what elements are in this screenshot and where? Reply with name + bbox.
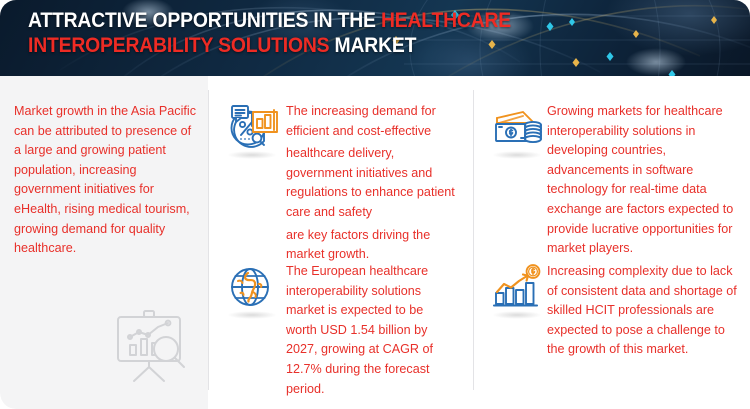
card-european-market-icon-wrap (224, 262, 280, 319)
icon-shadow (492, 151, 542, 159)
bar-chart-growth-dollar-icon (489, 262, 545, 314)
content-area: Market growth in the Asia Pacific can be… (0, 76, 750, 409)
column-divider-2 (473, 90, 474, 390)
card-european-market: The European healthcare interoperability… (224, 262, 456, 399)
icon-shadow (227, 151, 277, 159)
card-demand-para-2: healthcare delivery, government initiati… (286, 144, 456, 222)
title-segment-red-1: HEALTHCARE (381, 8, 511, 32)
title-segment-white-2: MARKET (329, 33, 416, 57)
globe-icon (224, 262, 280, 314)
money-banknote-coins-icon (489, 102, 545, 154)
header-banner: ATTRACTIVE OPPORTUNITIES IN THE HEALTHCA… (0, 0, 750, 76)
card-demand-icon-wrap (224, 102, 280, 159)
asia-pacific-description: Market growth in the Asia Pacific can be… (14, 102, 196, 259)
title-segment-white-1: ATTRACTIVE OPPORTUNITIES IN THE (28, 8, 381, 32)
card-growing-markets-text: Growing markets for healthcare interoper… (547, 102, 737, 259)
card-european-market-para-1: The European healthcare interoperability… (286, 262, 456, 399)
card-demand-text: The increasing demand for efficient and … (286, 102, 456, 265)
card-complexity-challenge-para-1: Increasing complexity due to lack of con… (547, 262, 737, 360)
card-demand-para-3: are key factors driving the market growt… (286, 226, 456, 265)
title-segment-red-2: INTEROPERABILITY SOLUTIONS (28, 33, 329, 57)
card-european-market-text: The European healthcare interoperability… (286, 262, 456, 399)
region-label-wrapper: ASIA PACIFIC (0, 295, 112, 395)
infographic-frame: ATTRACTIVE OPPORTUNITIES IN THE HEALTHCA… (0, 0, 750, 409)
card-complexity-challenge-icon-wrap (489, 262, 545, 319)
speech-bubble-percent-bar-chart-icon (224, 102, 280, 154)
card-growing-markets-para-1: Growing markets for healthcare interoper… (547, 102, 737, 259)
card-growing-markets: Growing markets for healthcare interoper… (489, 102, 737, 259)
card-complexity-challenge: Increasing complexity due to lack of con… (489, 262, 737, 360)
card-complexity-challenge-text: Increasing complexity due to lack of con… (547, 262, 737, 360)
column-divider-1 (208, 90, 209, 390)
icon-shadow (492, 311, 542, 319)
page-title: ATTRACTIVE OPPORTUNITIES IN THE HEALTHCA… (28, 8, 532, 58)
card-demand: The increasing demand for efficient and … (224, 102, 456, 265)
card-growing-markets-icon-wrap (489, 102, 545, 159)
card-demand-para-1: The increasing demand for efficient and … (286, 102, 456, 141)
presentation-board-chart-magnifier-icon (108, 309, 194, 385)
icon-shadow (227, 311, 277, 319)
